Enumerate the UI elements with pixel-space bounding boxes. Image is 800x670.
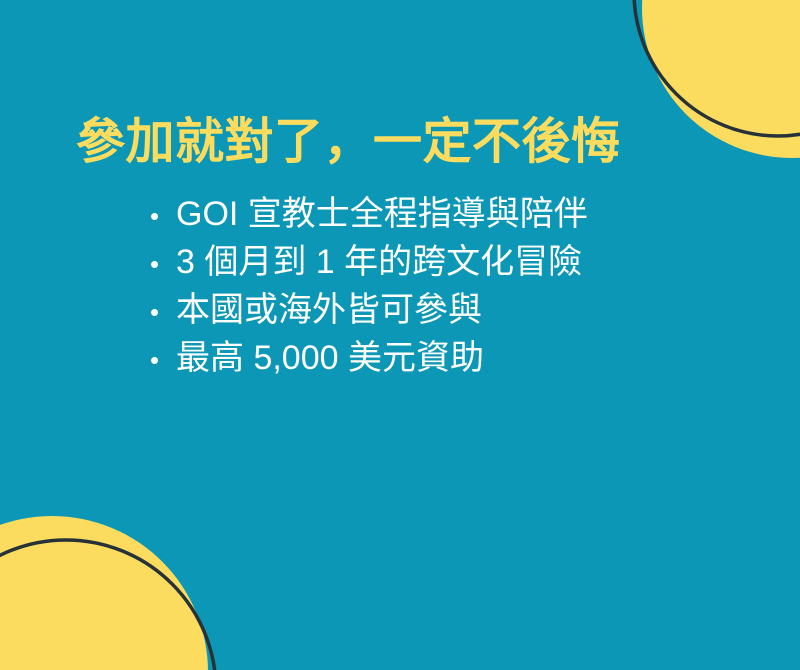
feature-bullet-list: • GOI 宣教士全程指導與陪伴 • 3 個月到 1 年的跨文化冒險 • 本國或… (150, 190, 588, 382)
list-item-label: 最高 5,000 美元資助 (176, 334, 484, 382)
list-item: • 3 個月到 1 年的跨文化冒險 (150, 238, 588, 286)
list-item-label: GOI 宣教士全程指導與陪伴 (176, 190, 588, 238)
bullet-point-icon: • (150, 240, 176, 288)
presentation-slide: 參加就對了，一定不後悔 • GOI 宣教士全程指導與陪伴 • 3 個月到 1 年… (0, 0, 800, 670)
list-item: • 本國或海外皆可參與 (150, 286, 588, 334)
slide-title: 參加就對了，一定不後悔 (76, 115, 621, 170)
list-item-label: 3 個月到 1 年的跨文化冒險 (176, 238, 582, 286)
slide-content: 參加就對了，一定不後悔 • GOI 宣教士全程指導與陪伴 • 3 個月到 1 年… (0, 0, 800, 670)
list-item-label: 本國或海外皆可參與 (176, 286, 482, 334)
bullet-point-icon: • (150, 336, 176, 384)
bullet-point-icon: • (150, 192, 176, 240)
bullet-point-icon: • (150, 288, 176, 336)
list-item: • GOI 宣教士全程指導與陪伴 (150, 190, 588, 238)
list-item: • 最高 5,000 美元資助 (150, 334, 588, 382)
